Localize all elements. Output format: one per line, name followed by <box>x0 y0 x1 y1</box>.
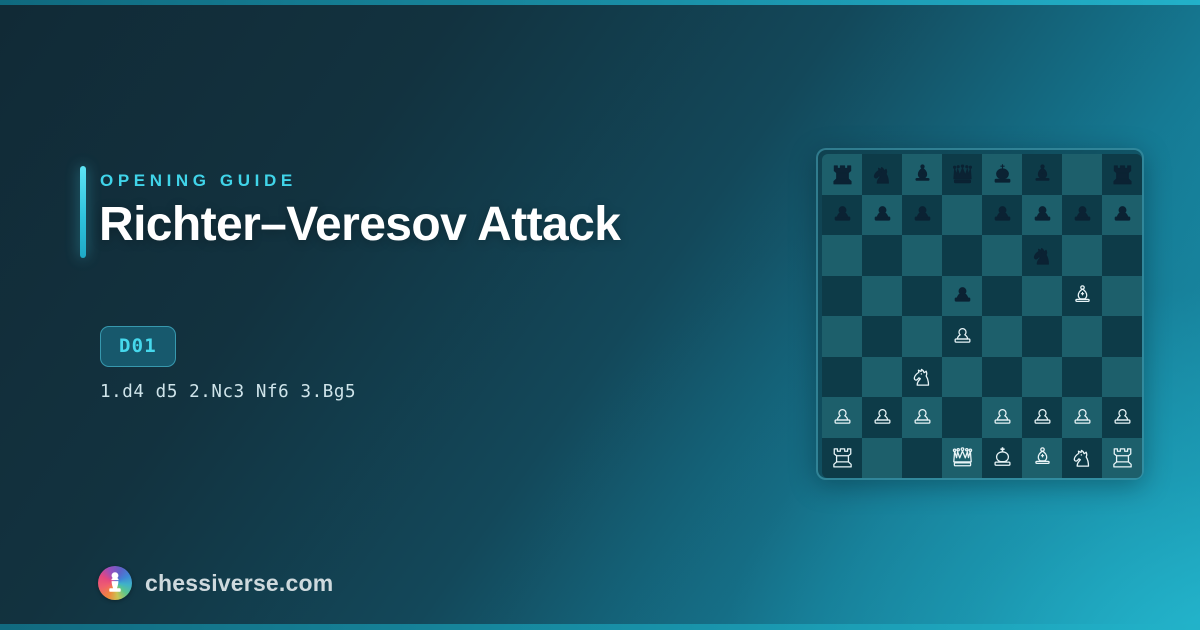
square-d1-white-queen[interactable] <box>942 438 982 479</box>
square-a8-black-rook[interactable] <box>822 154 862 195</box>
square-f6-black-knight[interactable] <box>1022 235 1062 276</box>
eco-code-badge: D01 <box>100 326 176 367</box>
page-title: Richter–Veresov Attack <box>99 197 620 252</box>
square-b8-black-knight[interactable] <box>862 154 902 195</box>
square-g7-black-pawn[interactable] <box>1062 195 1102 236</box>
square-h7-black-pawn[interactable] <box>1102 195 1142 236</box>
square-b3-empty[interactable] <box>862 357 902 398</box>
square-f3-empty[interactable] <box>1022 357 1062 398</box>
square-e6-empty[interactable] <box>982 235 1022 276</box>
square-a2-white-pawn[interactable] <box>822 397 862 438</box>
move-sequence: 1.d4 d5 2.Nc3 Nf6 3.Bg5 <box>100 382 356 402</box>
square-h8-black-rook[interactable] <box>1102 154 1142 195</box>
square-a4-empty[interactable] <box>822 316 862 357</box>
square-c8-black-bishop[interactable] <box>902 154 942 195</box>
square-c5-empty[interactable] <box>902 276 942 317</box>
square-b4-empty[interactable] <box>862 316 902 357</box>
square-c6-empty[interactable] <box>902 235 942 276</box>
square-c7-black-pawn[interactable] <box>902 195 942 236</box>
square-e1-white-king[interactable] <box>982 438 1022 479</box>
square-f1-white-bishop[interactable] <box>1022 438 1062 479</box>
square-a6-empty[interactable] <box>822 235 862 276</box>
square-e8-black-king[interactable] <box>982 154 1022 195</box>
square-d4-white-pawn[interactable] <box>942 316 982 357</box>
bottom-accent-strip <box>0 624 1200 630</box>
square-f5-empty[interactable] <box>1022 276 1062 317</box>
square-b1-empty[interactable] <box>862 438 902 479</box>
square-c3-white-knight[interactable] <box>902 357 942 398</box>
square-d5-black-pawn[interactable] <box>942 276 982 317</box>
chessboard-frame <box>816 148 1144 480</box>
square-h1-white-rook[interactable] <box>1102 438 1142 479</box>
brand-name: chessiverse.com <box>145 570 333 597</box>
square-h3-empty[interactable] <box>1102 357 1142 398</box>
square-a3-empty[interactable] <box>822 357 862 398</box>
square-e7-black-pawn[interactable] <box>982 195 1022 236</box>
square-d3-empty[interactable] <box>942 357 982 398</box>
eyebrow-label: OPENING GUIDE <box>100 171 297 191</box>
square-f7-black-pawn[interactable] <box>1022 195 1062 236</box>
title-accent-bar <box>80 166 86 258</box>
square-f8-black-bishop[interactable] <box>1022 154 1062 195</box>
square-e2-white-pawn[interactable] <box>982 397 1022 438</box>
square-g3-empty[interactable] <box>1062 357 1102 398</box>
square-b7-black-pawn[interactable] <box>862 195 902 236</box>
square-b5-empty[interactable] <box>862 276 902 317</box>
top-accent-strip <box>0 0 1200 5</box>
square-h5-empty[interactable] <box>1102 276 1142 317</box>
square-c2-white-pawn[interactable] <box>902 397 942 438</box>
square-a7-black-pawn[interactable] <box>822 195 862 236</box>
square-g2-white-pawn[interactable] <box>1062 397 1102 438</box>
square-a5-empty[interactable] <box>822 276 862 317</box>
opening-guide-card: OPENING GUIDE Richter–Veresov Attack D01… <box>0 0 1200 630</box>
square-d6-empty[interactable] <box>942 235 982 276</box>
chessiverse-logo-icon <box>98 566 132 600</box>
square-c4-empty[interactable] <box>902 316 942 357</box>
brand-footer[interactable]: chessiverse.com <box>98 566 333 600</box>
square-a1-white-rook[interactable] <box>822 438 862 479</box>
square-d2-empty[interactable] <box>942 397 982 438</box>
square-h6-empty[interactable] <box>1102 235 1142 276</box>
square-g1-white-knight[interactable] <box>1062 438 1102 479</box>
square-g4-empty[interactable] <box>1062 316 1102 357</box>
square-f2-white-pawn[interactable] <box>1022 397 1062 438</box>
square-g5-white-bishop[interactable] <box>1062 276 1102 317</box>
square-h2-white-pawn[interactable] <box>1102 397 1142 438</box>
chessboard[interactable] <box>822 154 1142 478</box>
square-e4-empty[interactable] <box>982 316 1022 357</box>
square-d7-empty[interactable] <box>942 195 982 236</box>
square-g8-empty[interactable] <box>1062 154 1102 195</box>
square-b6-empty[interactable] <box>862 235 902 276</box>
square-e3-empty[interactable] <box>982 357 1022 398</box>
square-e5-empty[interactable] <box>982 276 1022 317</box>
square-g6-empty[interactable] <box>1062 235 1102 276</box>
square-b2-white-pawn[interactable] <box>862 397 902 438</box>
square-d8-black-queen[interactable] <box>942 154 982 195</box>
square-f4-empty[interactable] <box>1022 316 1062 357</box>
square-h4-empty[interactable] <box>1102 316 1142 357</box>
square-c1-empty[interactable] <box>902 438 942 479</box>
